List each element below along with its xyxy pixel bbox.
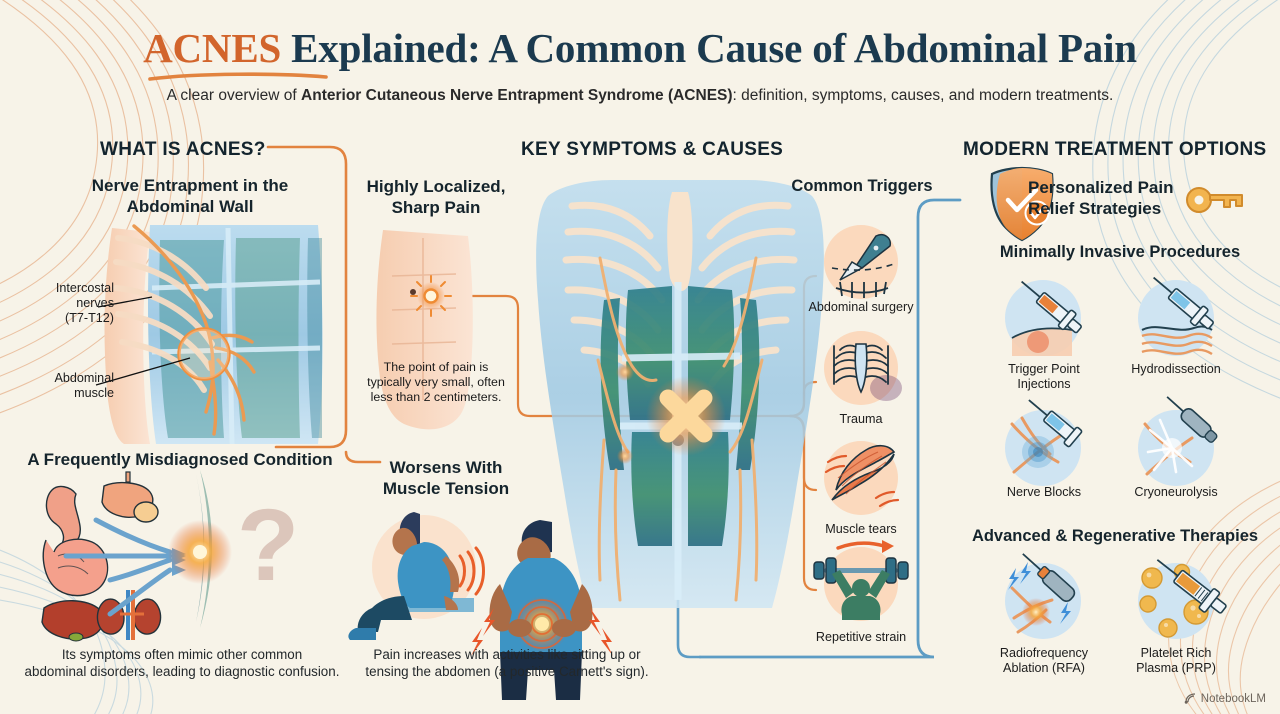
label-abdominal-muscle: Abdominal muscle bbox=[24, 371, 114, 401]
title-acnes: ACNES bbox=[143, 25, 281, 71]
right-group2-title: Advanced & Regenerative Therapies bbox=[950, 527, 1280, 546]
subtitle-post: : definition, symptoms, causes, and mode… bbox=[733, 87, 1114, 104]
trigger-label-3: Repetitive strain bbox=[791, 630, 931, 645]
trigger-label-0: Abdominal surgery bbox=[791, 300, 931, 315]
illustration-main-torso bbox=[536, 180, 824, 608]
mid-block1-caption: The point of pain is typically very smal… bbox=[356, 360, 516, 405]
mid-block2-title: Worsens With Muscle Tension bbox=[356, 458, 536, 499]
page-subtitle: A clear overview of Anterior Cutaneous N… bbox=[0, 87, 1280, 105]
title-underline bbox=[148, 72, 328, 81]
common-triggers-title: Common Triggers bbox=[772, 177, 952, 196]
trigger-icon-muscle-tears bbox=[824, 441, 898, 515]
section-head-what-is-acnes: WHAT IS ACNES? bbox=[100, 139, 266, 161]
treatment-label-3: Cryoneurolysis bbox=[1110, 485, 1242, 500]
title-explained: Explained: bbox=[281, 25, 480, 71]
treatment-label-2: Nerve Blocks bbox=[978, 485, 1110, 500]
treatment-label-5: Platelet Rich Plasma (PRP) bbox=[1110, 646, 1242, 676]
right-group1-title: Minimally Invasive Procedures bbox=[960, 243, 1280, 262]
svg-text:?: ? bbox=[237, 488, 299, 602]
trigger-label-2: Muscle tears bbox=[791, 522, 931, 537]
treatment-label-1: Hydrodissection bbox=[1110, 362, 1242, 377]
treatment-label-0: Trigger Point Injections bbox=[978, 362, 1110, 392]
title-rest: A Common Cause of Abdominal Pain bbox=[481, 25, 1137, 71]
infographic-canvas: ? bbox=[0, 0, 1280, 714]
section-head-key-symptoms: KEY SYMPTOMS & CAUSES bbox=[521, 139, 783, 161]
left-block2-caption: Its symptoms often mimic other common ab… bbox=[12, 646, 352, 680]
mid-block1-title: Highly Localized, Sharp Pain bbox=[356, 177, 516, 218]
watermark: NotebookLM bbox=[1184, 692, 1266, 705]
notebooklm-icon bbox=[1184, 692, 1197, 705]
left-block2-title: A Frequently Misdiagnosed Condition bbox=[20, 450, 340, 471]
left-block1-title: Nerve Entrapment in the Abdominal Wall bbox=[60, 176, 320, 217]
trigger-label-1: Trauma bbox=[791, 412, 931, 427]
illustration-nerve-entrapment bbox=[96, 225, 323, 444]
mid-block2-caption: Pain increases with activities like sitt… bbox=[352, 646, 662, 680]
treatment-label-4: Radiofrequency Ablation (RFA) bbox=[978, 646, 1110, 676]
subtitle-pre: A clear overview of bbox=[167, 87, 301, 104]
right-hero-title: Personalized Pain Relief Strategies bbox=[1028, 178, 1188, 219]
page-title: ACNES Explained: A Common Cause of Abdom… bbox=[0, 24, 1280, 72]
trigger-icon-abdominal-surgery bbox=[824, 225, 898, 299]
subtitle-bold: Anterior Cutaneous Nerve Entrapment Synd… bbox=[301, 87, 733, 104]
watermark-text: NotebookLM bbox=[1201, 693, 1266, 705]
section-head-treatments: MODERN TREATMENT OPTIONS bbox=[963, 139, 1266, 161]
label-intercostal-nerves: Intercostal nerves (T7-T12) bbox=[24, 281, 114, 326]
